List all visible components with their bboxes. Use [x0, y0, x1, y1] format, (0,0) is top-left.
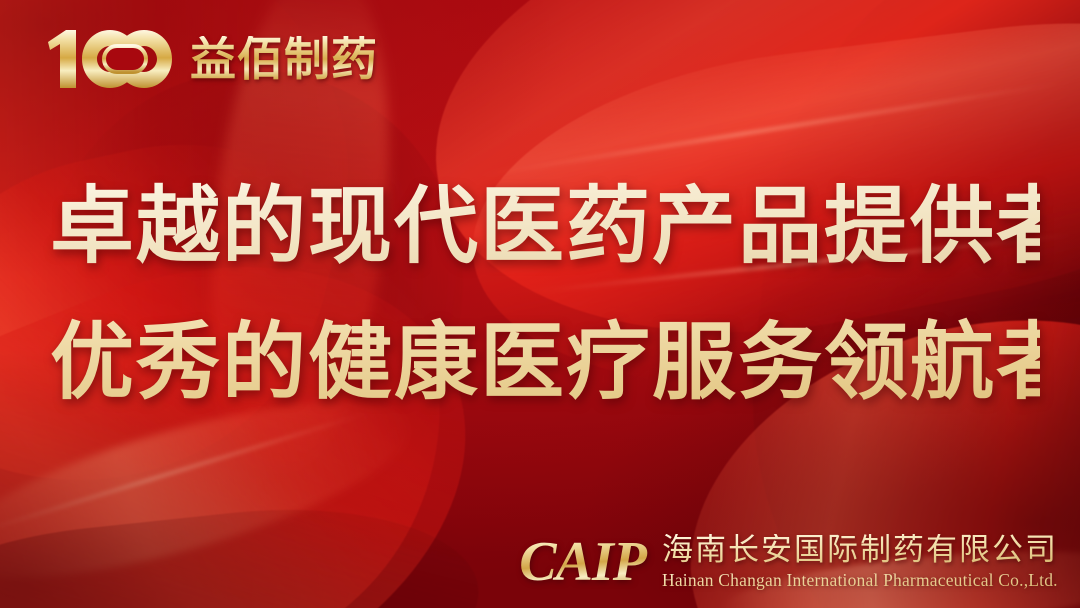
poster-canvas: 益佰制药 卓越的现代医药产品提供者， 优秀的健康医疗服务领航者。 CAIP 海南…: [0, 0, 1080, 608]
headline-line-1: 卓越的现代医药产品提供者，: [50, 158, 1040, 294]
company-name-group: 海南长安国际制药有限公司 Hainan Changan Internationa…: [662, 534, 1058, 590]
caip-monogram: CAIP: [519, 534, 648, 590]
company-name-en: Hainan Changan International Pharmaceuti…: [662, 571, 1058, 590]
headline-block: 卓越的现代医药产品提供者， 优秀的健康医疗服务领航者。: [50, 158, 1040, 430]
brand-logo-top-left: 益佰制药: [46, 24, 378, 94]
silk-shadow-bottom-left: [0, 488, 489, 608]
hundred-infinity-mark-icon: [46, 28, 174, 90]
company-brand-block: CAIP 海南长安国际制药有限公司 Hainan Changan Interna…: [519, 534, 1058, 590]
logo-wordmark: 益佰制药: [190, 36, 378, 82]
headline-line-2: 优秀的健康医疗服务领航者。: [50, 294, 1040, 430]
company-name-cn: 海南长安国际制药有限公司: [662, 534, 1058, 567]
